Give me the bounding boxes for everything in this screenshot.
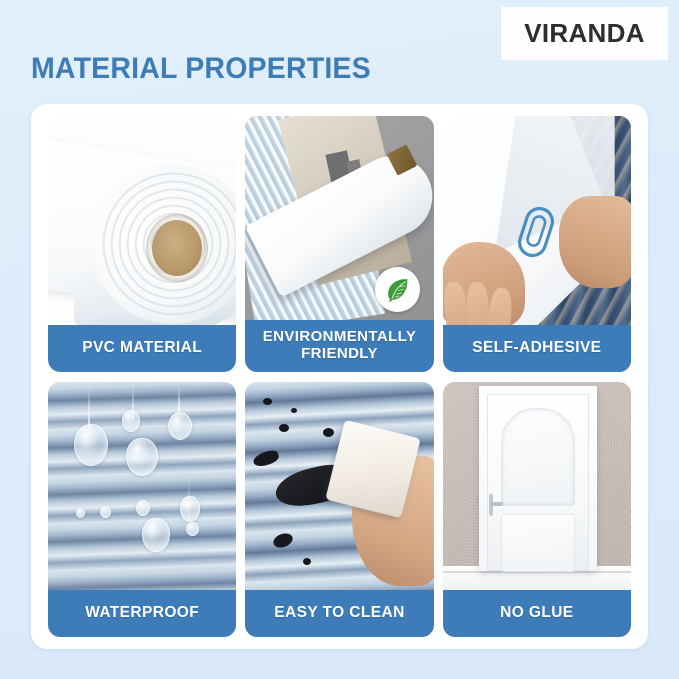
tile-label-text: PVC MATERIAL <box>82 340 202 357</box>
tile-label-line-1: ENVIRONMENTALLY <box>263 328 417 345</box>
feature-tile-pvc-material[interactable]: PVC MATERIAL <box>48 116 236 372</box>
tile-label-bar: EASY TO CLEAN <box>245 590 433 637</box>
feature-tile-no-glue[interactable]: NO GLUE <box>443 382 631 638</box>
feature-grid: PVC MATERIAL <box>48 116 631 637</box>
brand-name: VIRANDA <box>524 18 645 49</box>
tile-label-bar: PVC MATERIAL <box>48 325 236 372</box>
feature-tile-waterproof[interactable]: WATERPROOF <box>48 382 236 638</box>
tile-label-text: SELF-ADHESIVE <box>472 340 601 357</box>
leaf-icon-badge <box>375 267 420 312</box>
tile-label-text: EASY TO CLEAN <box>274 605 404 622</box>
feature-tile-easy-to-clean[interactable]: EASY TO CLEAN <box>245 382 433 638</box>
feature-tile-self-adhesive[interactable]: SELF-ADHESIVE <box>443 116 631 372</box>
tile-label-text: NO GLUE <box>500 605 573 622</box>
tile-label-bar: NO GLUE <box>443 590 631 637</box>
tile-label-bar: WATERPROOF <box>48 590 236 637</box>
brand-logo-box: VIRANDA <box>501 7 668 60</box>
tile-label-text: WATERPROOF <box>85 605 199 622</box>
feature-tile-environmentally-friendly[interactable]: ENVIRONMENTALLY FRIENDLY <box>245 116 433 372</box>
tile-label-text: ENVIRONMENTALLY FRIENDLY <box>263 329 417 361</box>
tile-label-bar: ENVIRONMENTALLY FRIENDLY <box>245 320 433 372</box>
tile-label-line-2: FRIENDLY <box>301 345 378 362</box>
feature-card: PVC MATERIAL <box>31 104 648 649</box>
tile-label-bar: SELF-ADHESIVE <box>443 325 631 372</box>
page-title: MATERIAL PROPERTIES <box>31 52 371 86</box>
leaf-icon <box>382 274 412 304</box>
